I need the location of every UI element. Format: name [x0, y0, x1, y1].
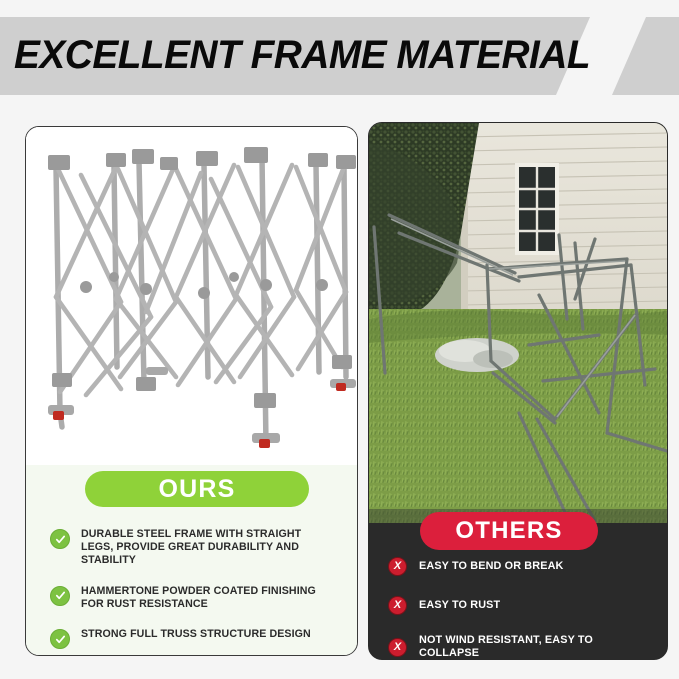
ours-badge: OURS: [85, 471, 309, 507]
list-item: DURABLE STEEL FRAME WITH STRAIGHT LEGS, …: [50, 528, 345, 568]
check-circle-icon: [50, 629, 70, 649]
check-circle-icon: [50, 529, 70, 549]
list-item: HAMMERTONE POWDER COATED FINISHING FOR R…: [50, 585, 345, 611]
others-bullet-list: X EASY TO BEND OR BREAK X EASY TO RUST X…: [388, 556, 663, 679]
list-item: STRONG FULL TRUSS STRUCTURE DESIGN: [50, 628, 345, 649]
header-banner: EXCELLENT FRAME MATERIAL: [0, 17, 679, 95]
others-bullet-text: NOT WIND RESISTANT, EASY TO COLLAPSE: [419, 634, 651, 660]
broken-canopy-photo: [369, 123, 667, 523]
ours-bullet-text: DURABLE STEEL FRAME WITH STRAIGHT LEGS, …: [81, 528, 332, 568]
x-circle-icon: X: [388, 638, 407, 657]
header-band-accent: [612, 17, 679, 95]
others-product-photo: [369, 123, 667, 523]
check-circle-icon: [50, 586, 70, 606]
ours-bullet-list: DURABLE STEEL FRAME WITH STRAIGHT LEGS, …: [50, 528, 345, 649]
list-item: X EASY TO RUST: [388, 595, 663, 615]
ours-bullet-text: STRONG FULL TRUSS STRUCTURE DESIGN: [81, 628, 311, 641]
page-title: EXCELLENT FRAME MATERIAL: [14, 27, 590, 83]
ours-product-image: [26, 127, 357, 467]
list-item: X NOT WIND RESISTANT, EASY TO COLLAPSE: [388, 634, 663, 660]
list-item: X EASY TO BEND OR BREAK: [388, 556, 663, 576]
others-bullet-text: EASY TO RUST: [419, 599, 500, 612]
ours-bullet-text: HAMMERTONE POWDER COATED FINISHING FOR R…: [81, 585, 332, 611]
infographic-page: EXCELLENT FRAME MATERIAL: [0, 0, 679, 679]
x-circle-icon: X: [388, 596, 407, 615]
x-circle-icon: X: [388, 557, 407, 576]
others-badge: OTHERS: [420, 512, 598, 550]
canopy-frame-illustration: [26, 127, 357, 467]
others-bullet-text: EASY TO BEND OR BREAK: [419, 560, 564, 573]
